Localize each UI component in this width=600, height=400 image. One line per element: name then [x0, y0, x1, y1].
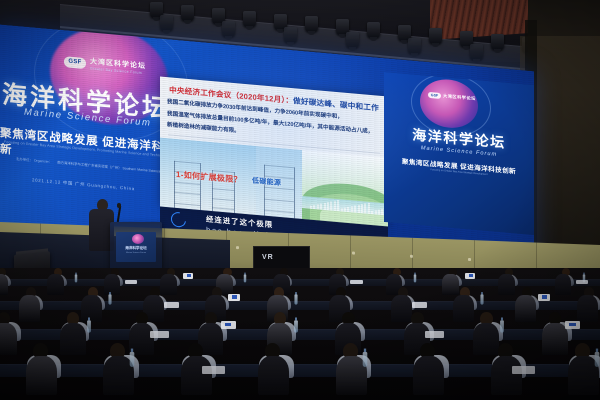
placard-emblem: [225, 323, 232, 327]
stage-light: [305, 16, 318, 32]
stage-light: [160, 15, 173, 31]
attendee-body: [160, 274, 177, 295]
wall-dot: [352, 252, 355, 255]
placard-emblem: [187, 274, 191, 276]
attendee-body: [81, 295, 102, 322]
attendee-body: [498, 274, 515, 295]
attendee-body: [391, 295, 412, 322]
water-bottle: [595, 352, 600, 367]
attendee-body: [0, 274, 8, 295]
placard-emblem: [569, 323, 576, 327]
water-bottle: [87, 320, 91, 332]
attendee-body: [442, 274, 459, 295]
water-bottle: [130, 352, 135, 367]
podium-label-en: Marine Science Forum: [118, 252, 154, 254]
podium-orb-graphic: [132, 234, 144, 244]
attendee-body: [515, 295, 536, 322]
podium-label-cn: 海洋科学论坛: [118, 246, 154, 251]
document-paper: [576, 280, 588, 284]
monitor-label: VR: [262, 254, 274, 261]
wall-dot: [468, 258, 471, 261]
attendee-body: [0, 323, 17, 355]
document-paper: [202, 366, 225, 374]
side-led-banner: GSF 大湾区科学论坛 海洋科学论坛 Marine Science Forum …: [384, 72, 534, 235]
attendee-body: [60, 323, 86, 355]
attendee-body: [542, 323, 568, 355]
attendee-body: [413, 356, 444, 395]
stage-light: [346, 32, 359, 48]
microphone-icon: [117, 203, 121, 208]
attendee-body: [453, 295, 474, 322]
water-bottle: [480, 295, 483, 305]
stage-light: [408, 38, 421, 54]
document-paper: [150, 331, 169, 338]
side-gsf-badge: GSF: [428, 92, 441, 99]
attendee-body: [181, 356, 212, 395]
wall-dot: [236, 246, 239, 249]
stage-light: [367, 22, 380, 38]
stage-light: [491, 34, 504, 50]
audience-area: [0, 268, 600, 400]
attendee-body: [104, 274, 121, 295]
placard-emblem: [232, 295, 237, 298]
stage-light: [243, 11, 256, 27]
stage-light: [222, 21, 235, 37]
attendee-body: [19, 295, 40, 322]
water-bottle: [294, 320, 298, 332]
placard-emblem: [542, 295, 547, 298]
attendee-body: [473, 323, 499, 355]
attendee-body: [47, 274, 64, 295]
attendee-body: [555, 274, 572, 295]
document-paper: [412, 302, 428, 307]
attendee-body: [26, 356, 57, 395]
document-paper: [512, 366, 535, 374]
water-bottle: [294, 295, 297, 305]
placard-emblem: [469, 274, 473, 276]
stage-light: [284, 27, 297, 43]
document-paper: [350, 280, 362, 284]
stage-light: [181, 5, 194, 21]
document-paper: [425, 331, 444, 338]
attendee-body: [577, 295, 598, 322]
attendee-body: [258, 356, 289, 395]
water-bottle: [413, 275, 415, 283]
document-paper: [164, 302, 180, 307]
conference-hall-photo: GSF 大湾区科学论坛 Greater Bay Science Forum 海洋…: [0, 0, 600, 400]
document-paper: [125, 280, 137, 284]
attendee-body: [491, 356, 522, 395]
water-bottle: [108, 295, 111, 305]
stage-light: [429, 28, 442, 44]
water-bottle: [500, 320, 504, 332]
wall-dot: [410, 255, 413, 258]
water-bottle: [363, 352, 368, 367]
stage-light: [470, 44, 483, 60]
